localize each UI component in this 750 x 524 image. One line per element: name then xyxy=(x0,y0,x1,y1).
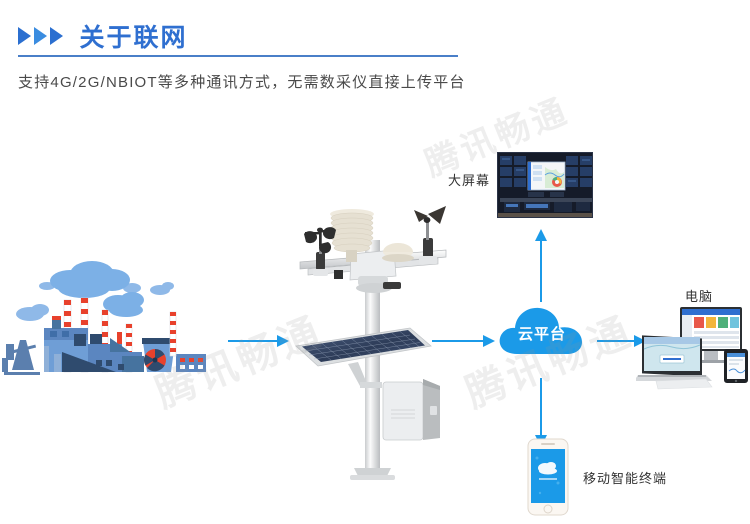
computer-label: 电脑 xyxy=(685,286,713,305)
factory-illustration xyxy=(0,248,240,388)
smartphone-photo[interactable] xyxy=(527,438,569,516)
triangle-right-icon xyxy=(50,27,63,45)
control-room-screen-photo[interactable] xyxy=(497,152,593,218)
header-subtitle: 支持4G/2G/NBIOT等多种通讯方式，无需数采仪直接上传平台 xyxy=(18,70,488,96)
arrow-station-to-cloud xyxy=(432,340,484,342)
arrow-cloud-to-mobile xyxy=(540,378,542,436)
triangle-right-icon xyxy=(34,27,47,45)
cloud-platform-node[interactable]: 云平台 xyxy=(497,300,587,360)
arrow-cloud-to-bigscreen xyxy=(540,240,542,302)
triangle-right-icon-group xyxy=(18,27,63,45)
section-header: 关于联网 xyxy=(18,18,478,54)
bigscreen-label: 大屏幕 xyxy=(448,170,490,189)
page-root: 关于联网 支持4G/2G/NBIOT等多种通讯方式，无需数采仪直接上传平台 xyxy=(0,0,750,524)
cloud-platform-label: 云平台 xyxy=(497,300,587,360)
computer-devices-photo[interactable] xyxy=(636,305,750,393)
header-divider xyxy=(18,55,458,57)
arrow-factory-to-station xyxy=(228,340,278,342)
page-title: 关于联网 xyxy=(79,18,187,54)
arrow-cloud-to-computer xyxy=(597,340,635,342)
triangle-right-icon xyxy=(18,27,31,45)
mobile-label: 移动智能终端 xyxy=(583,468,667,487)
